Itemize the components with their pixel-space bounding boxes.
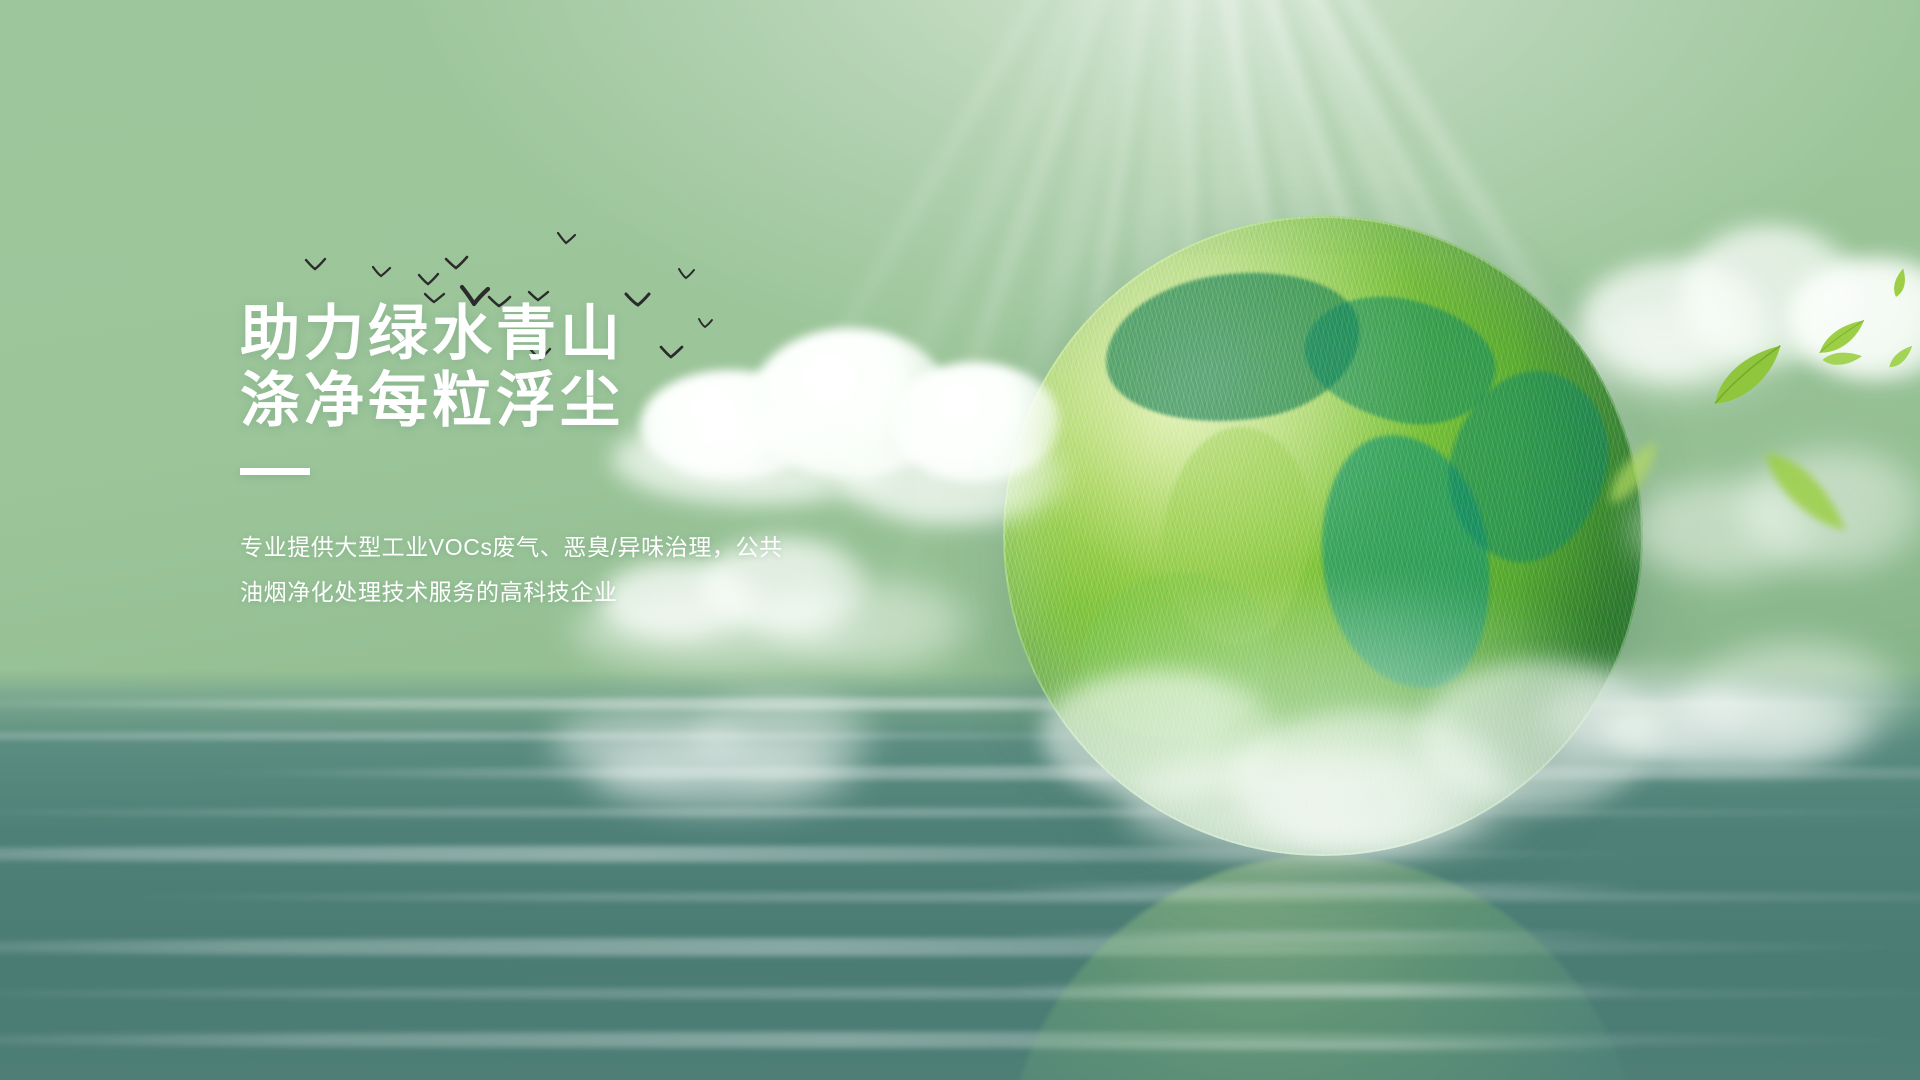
bird-icon: [678, 268, 696, 281]
leaf-icon: [1701, 340, 1796, 409]
green-grass-earth-globe: [1003, 216, 1643, 856]
hero-subtitle: 专业提供大型工业VOCs废气、恶臭/异味治理，公共油烟净化处理技术服务的高科技企…: [240, 525, 800, 615]
headline-divider: [240, 468, 310, 475]
hero-copy: 助力绿水青山 涤净每粒浮尘 专业提供大型工业VOCs废气、恶臭/异味治理，公共油…: [240, 300, 960, 615]
headline-line-1: 助力绿水青山: [240, 300, 960, 367]
hero-banner: 助力绿水青山 涤净每粒浮尘 专业提供大型工业VOCs废气、恶臭/异味治理，公共油…: [0, 0, 1920, 1080]
bird-icon: [305, 258, 327, 272]
leaf-icon: [1884, 344, 1919, 371]
headline-line-2: 涤净每粒浮尘: [240, 367, 960, 434]
bird-icon: [557, 232, 577, 246]
bird-icon: [445, 256, 469, 271]
bird-icon: [418, 273, 440, 287]
leaf-icon: [1886, 267, 1914, 300]
leaf-icon: [1760, 433, 1850, 551]
leaf-icon: [1821, 346, 1864, 372]
globe-water-reflection: [1003, 855, 1643, 1080]
bird-icon: [372, 266, 392, 279]
